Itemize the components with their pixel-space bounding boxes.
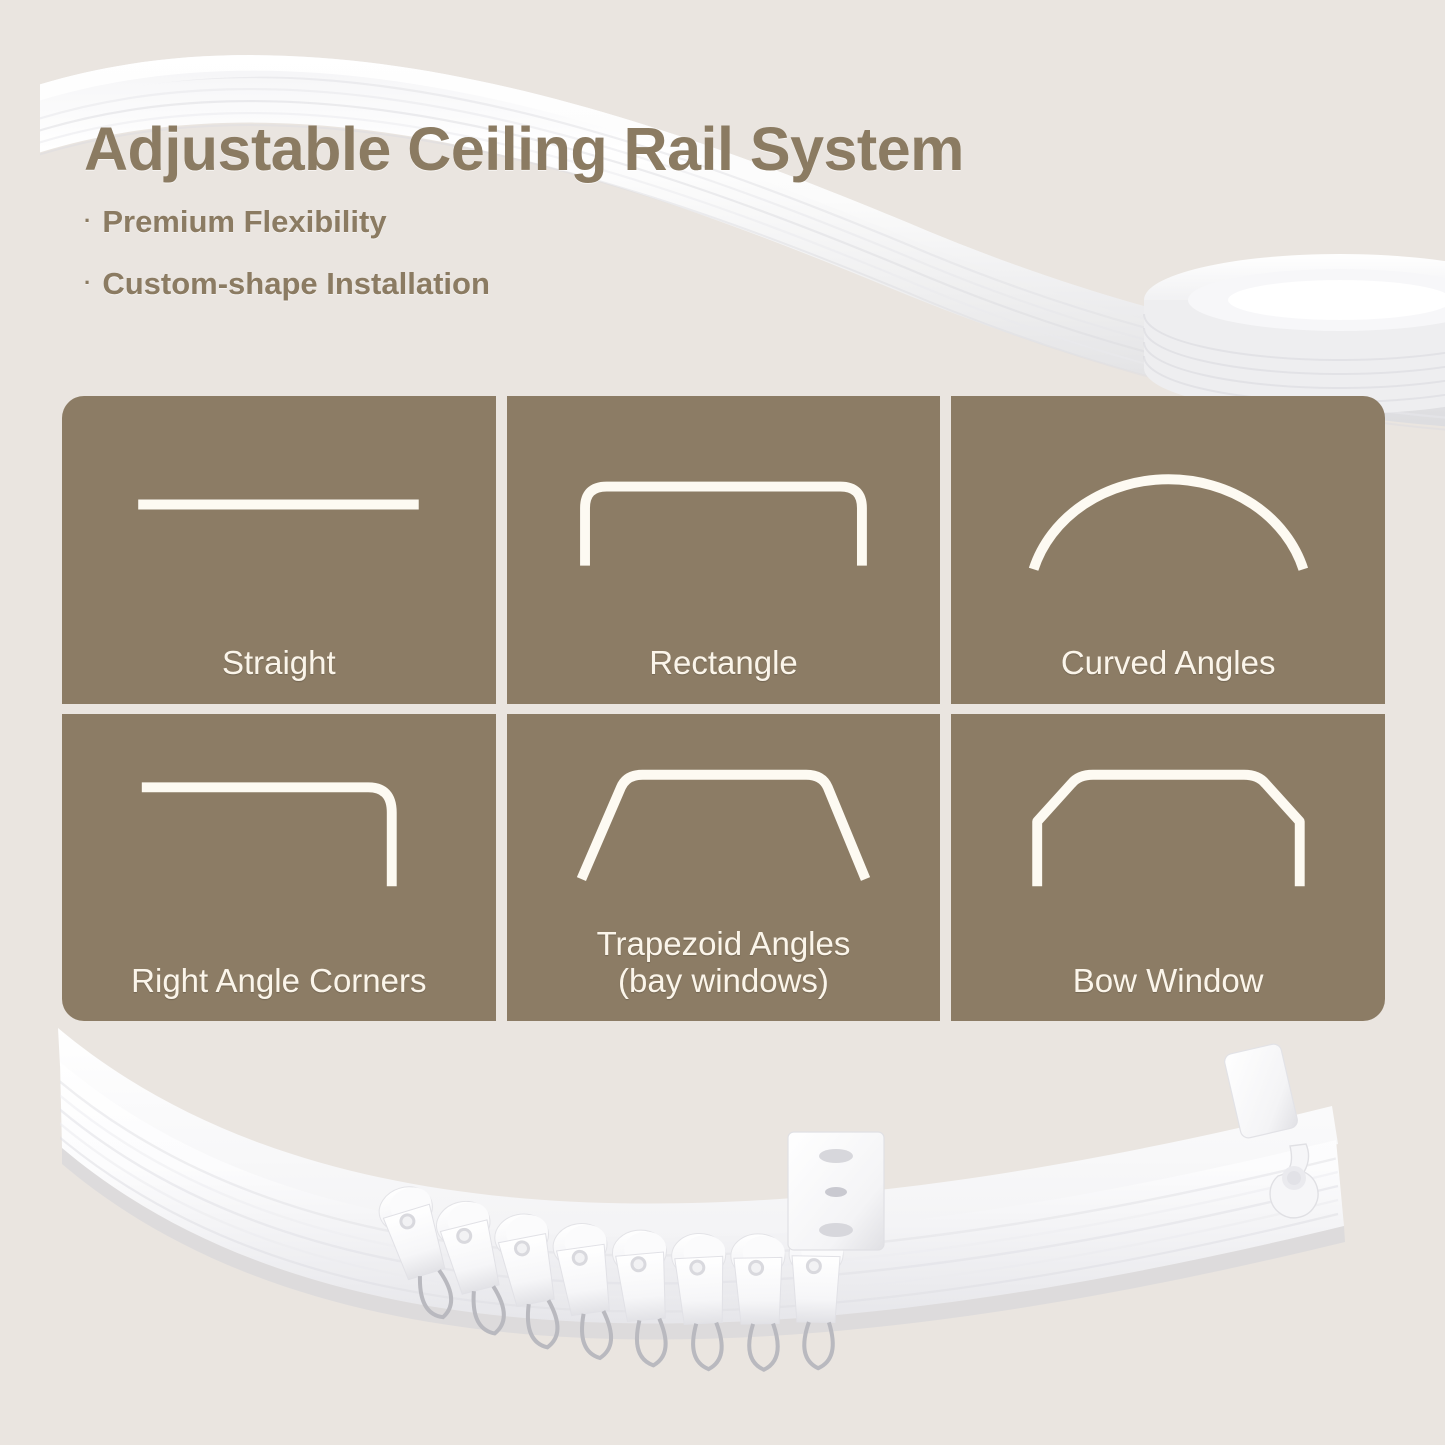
bow-window-rail-icon — [951, 714, 1385, 923]
curved-ceiling-rail — [0, 1010, 1445, 1445]
header-block: Adjustable Ceiling Rail System · Premium… — [84, 118, 1264, 328]
shape-label-text: Straight — [222, 644, 336, 681]
feature-bullet-1: · Premium Flexibility — [84, 204, 1264, 240]
feature-bullet-2: · Custom-shape Installation — [84, 266, 1264, 302]
shape-label-text: Trapezoid Angles — [597, 925, 851, 962]
shape-label-trapezoid-angles: Trapezoid Angles (bay windows) — [597, 926, 851, 1021]
rail-end-cap-ring — [1223, 1043, 1318, 1218]
shape-options-grid: Straight Rectangle Curved Angles — [62, 396, 1385, 1021]
shape-label-text: Right Angle Corners — [131, 962, 426, 999]
shape-label-text: Bow Window — [1073, 962, 1264, 999]
infographic-canvas: Adjustable Ceiling Rail System · Premium… — [0, 0, 1445, 1445]
shape-cell-right-angle-corners: Right Angle Corners — [62, 714, 496, 1022]
page-title: Adjustable Ceiling Rail System — [84, 118, 1264, 180]
ceiling-mount-bracket — [788, 1132, 884, 1250]
trapezoid-rail-icon — [507, 714, 941, 923]
shape-label-right-angle-corners: Right Angle Corners — [131, 963, 426, 1021]
feature-bullet-list: · Premium Flexibility · Custom-shape Ins… — [84, 204, 1264, 302]
feature-bullet-2-label: Custom-shape Installation — [102, 266, 490, 302]
shape-cell-curved-angles: Curved Angles — [951, 396, 1385, 704]
shape-sublabel-text: (bay windows) — [597, 963, 851, 999]
feature-bullet-1-label: Premium Flexibility — [102, 204, 386, 240]
shape-cell-rectangle: Rectangle — [507, 396, 941, 704]
right-angle-rail-icon — [62, 714, 496, 923]
bullet-marker-icon: · — [84, 272, 91, 294]
straight-rail-icon — [62, 396, 496, 605]
curved-arc-rail-icon — [951, 396, 1385, 605]
shape-cell-straight: Straight — [62, 396, 496, 704]
shape-cell-bow-window: Bow Window — [951, 714, 1385, 1022]
shape-label-bow-window: Bow Window — [1073, 963, 1264, 1021]
shape-label-text: Curved Angles — [1061, 644, 1276, 681]
shape-label-rectangle: Rectangle — [649, 645, 798, 703]
glider-group — [374, 1180, 844, 1370]
bullet-marker-icon: · — [84, 210, 91, 232]
shape-label-straight: Straight — [222, 645, 336, 703]
rectangle-rail-icon — [507, 396, 941, 605]
shape-label-curved-angles: Curved Angles — [1061, 645, 1276, 703]
shape-cell-trapezoid-angles: Trapezoid Angles (bay windows) — [507, 714, 941, 1022]
shape-label-text: Rectangle — [649, 644, 798, 681]
